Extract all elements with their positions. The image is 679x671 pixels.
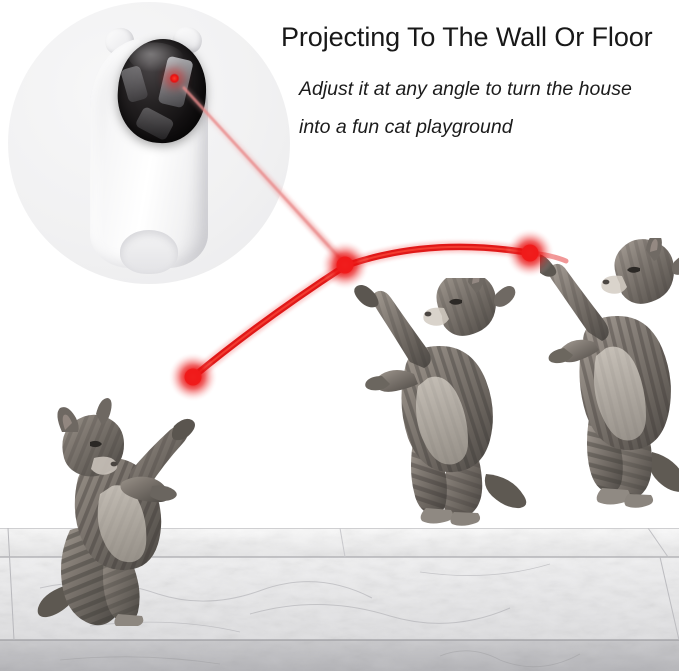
device-closeup-inset bbox=[8, 2, 290, 284]
subtitle-line-1: Adjust it at any angle to turn the house bbox=[299, 70, 671, 108]
cat-right-graphic bbox=[540, 238, 679, 524]
cat-middle-graphic bbox=[348, 278, 534, 530]
feature-image-canvas: Projecting To The Wall Or Floor Adjust i… bbox=[0, 0, 679, 671]
cat-right bbox=[540, 238, 679, 524]
cat-left-graphic bbox=[34, 398, 220, 626]
lens-facet-icon bbox=[135, 106, 175, 141]
page-subtitle: Adjust it at any angle to turn the house… bbox=[299, 70, 671, 146]
page-title: Projecting To The Wall Or Floor bbox=[281, 22, 671, 53]
subtitle-line-2: into a fun cat playground bbox=[299, 108, 671, 146]
laser-dot-left bbox=[168, 352, 218, 402]
cat-left bbox=[34, 398, 220, 626]
cat-middle bbox=[348, 278, 534, 530]
